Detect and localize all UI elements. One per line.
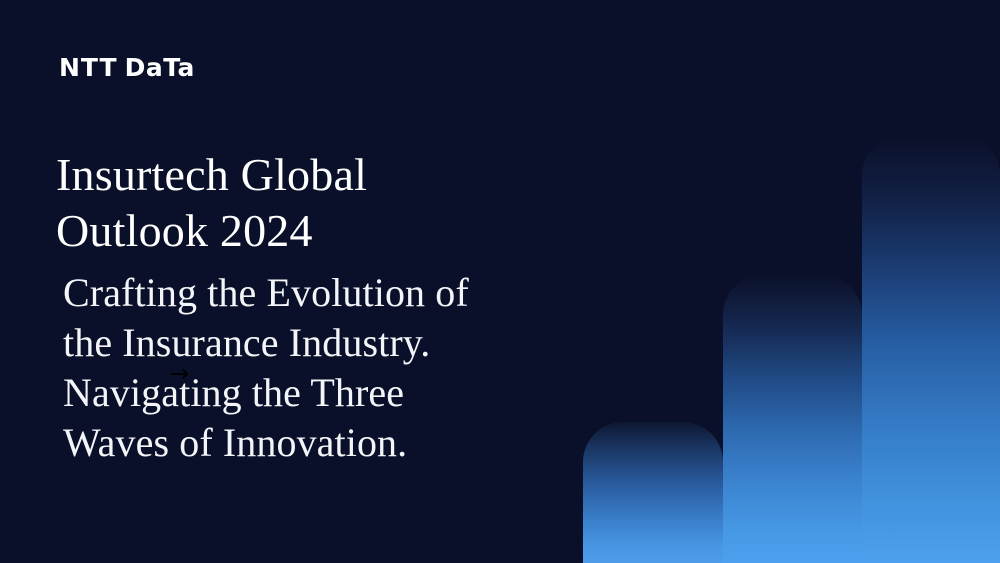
- graphic-bar-short: [583, 422, 723, 563]
- title-line-1: Insurtech Global: [56, 147, 526, 203]
- page-title: Insurtech Global Outlook 2024: [56, 147, 526, 259]
- page-subtitle: Crafting the Evolution of the Insurance …: [63, 268, 563, 468]
- subtitle-line-4: Waves of Innovation.: [63, 418, 563, 468]
- graphic-bar-tall: [862, 135, 1000, 563]
- subtitle-line-3: Navigating the Three: [63, 368, 563, 418]
- logo-text-ntt: NTT: [59, 53, 118, 82]
- arrow-cursor-icon: →: [170, 362, 200, 386]
- logo-text-data: DaTa: [125, 53, 195, 82]
- subtitle-line-1: Crafting the Evolution of: [63, 268, 563, 318]
- graphic-bar-medium: [723, 275, 862, 563]
- subtitle-line-2: the Insurance Industry.: [63, 318, 563, 368]
- presentation-slide: NTTDaTa Insurtech Global Outlook 2024 Cr…: [0, 0, 1000, 563]
- ntt-data-logo: NTTDaTa: [59, 55, 195, 80]
- title-line-2: Outlook 2024: [56, 203, 526, 259]
